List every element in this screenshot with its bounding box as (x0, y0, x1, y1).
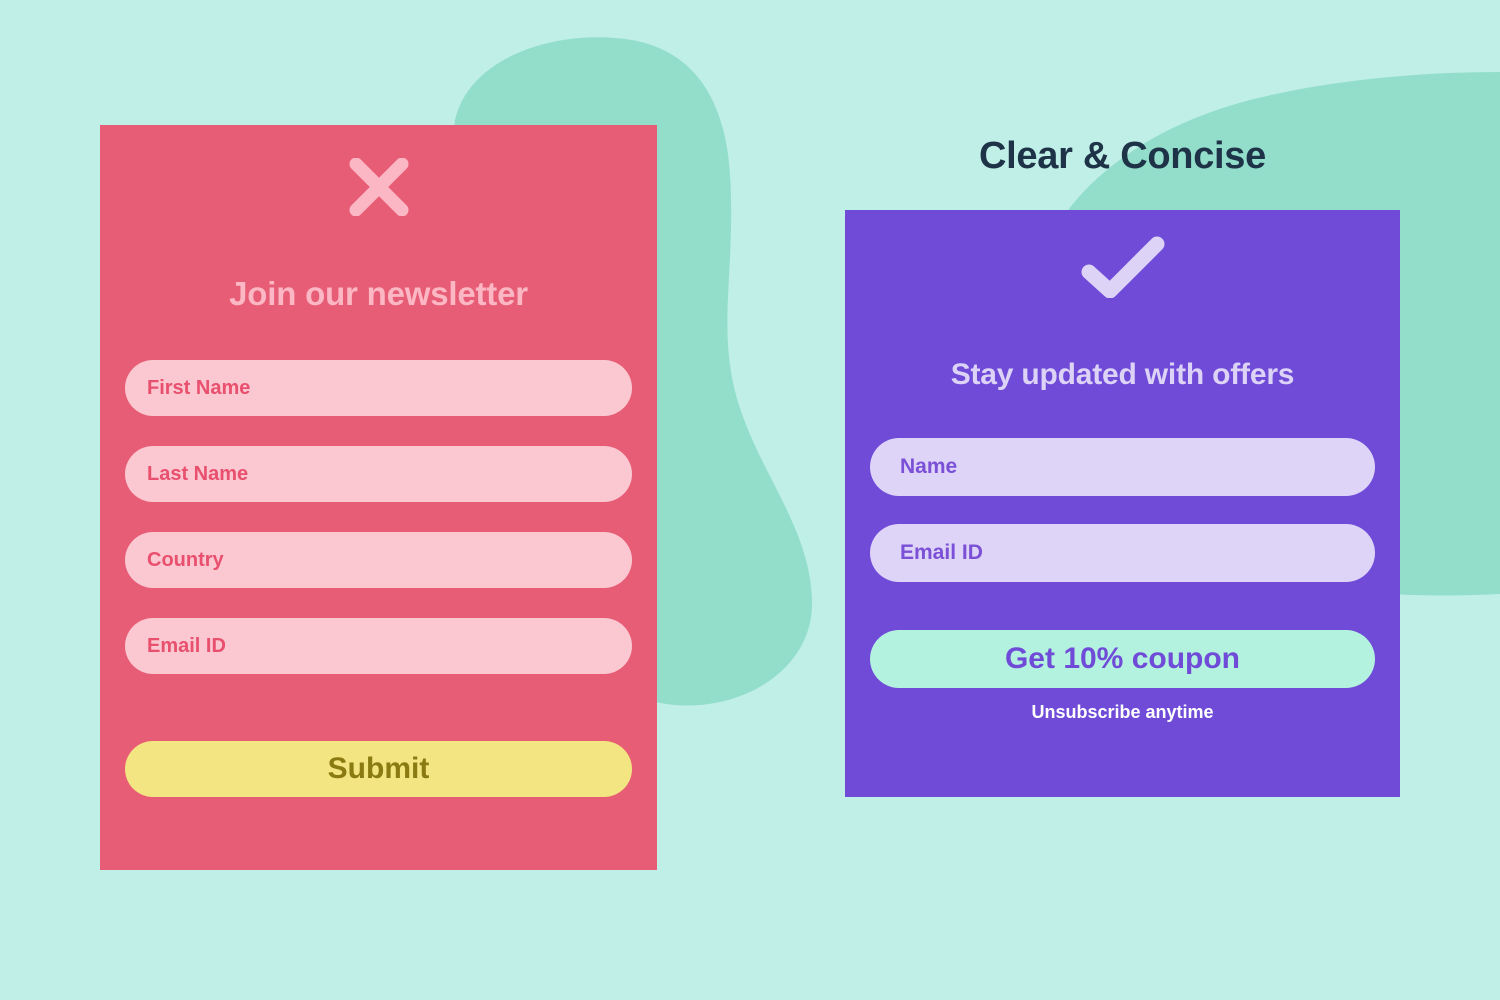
name-placeholder: Name (900, 455, 957, 479)
country-input[interactable]: Country (125, 532, 632, 588)
good-example-title: Stay updated with offers (845, 358, 1400, 392)
comparison-canvas: Join our newsletter First Name Last Name… (0, 0, 1500, 1000)
email-id-input[interactable]: Email ID (125, 618, 632, 674)
good-example-form: Name Email ID (870, 438, 1375, 610)
get-coupon-button[interactable]: Get 10% coupon (870, 630, 1375, 688)
email-input[interactable]: Email ID (870, 524, 1375, 582)
last-name-placeholder: Last Name (147, 463, 248, 486)
email-placeholder: Email ID (900, 541, 983, 565)
bad-example-title: Join our newsletter (100, 275, 657, 313)
first-name-placeholder: First Name (147, 377, 250, 400)
check-mark-icon (1081, 236, 1165, 298)
last-name-input[interactable]: Last Name (125, 446, 632, 502)
close-x-icon (348, 158, 410, 216)
email-id-placeholder: Email ID (147, 635, 226, 658)
submit-button[interactable]: Submit (125, 741, 632, 797)
unsubscribe-note: Unsubscribe anytime (845, 702, 1400, 723)
first-name-input[interactable]: First Name (125, 360, 632, 416)
good-example-heading: Clear & Concise (845, 135, 1400, 178)
bad-example-form: First Name Last Name Country Email ID (125, 360, 632, 704)
country-placeholder: Country (147, 549, 224, 572)
close-button[interactable] (100, 158, 657, 216)
success-indicator (845, 236, 1400, 298)
name-input[interactable]: Name (870, 438, 1375, 496)
